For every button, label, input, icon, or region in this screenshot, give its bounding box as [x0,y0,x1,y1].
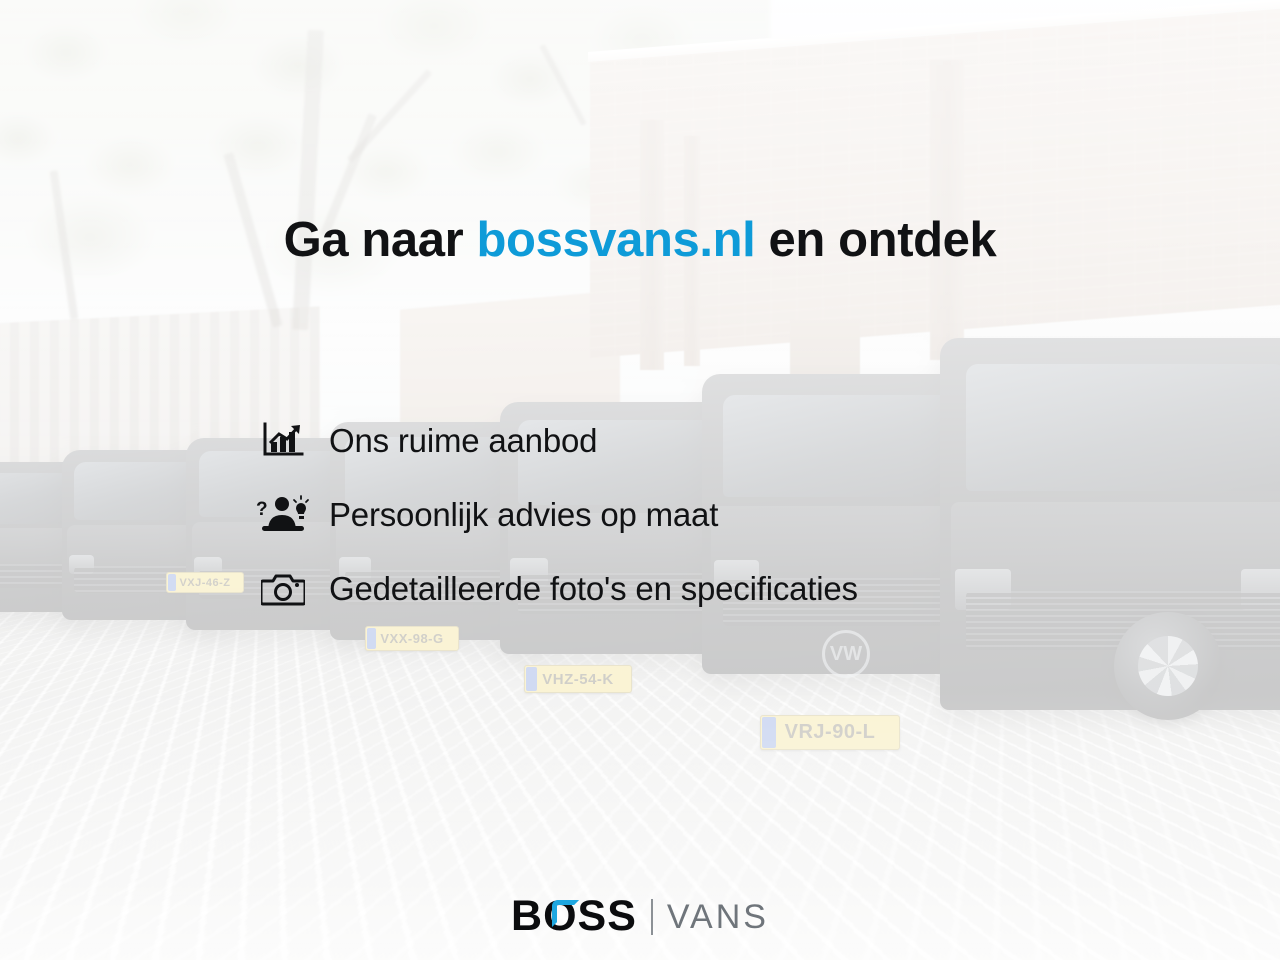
list-item-label: Gedetailleerde foto's en specificaties [329,570,858,608]
list-item-label: Ons ruime aanbod [329,422,597,460]
headline-brand[interactable]: bossvans.nl [477,213,756,267]
headline-before: Ga naar [284,213,477,267]
list-item-label: Persoonlijk advies op maat [329,496,718,534]
headline-after: en ontdek [755,213,996,267]
feature-list: Ons ruime aanbod ? Persoonlijk advies op… [255,418,858,612]
promo-banner: VW VXJ-46-Z VXX-98-G VHZ-54-K VRJ-90-L G… [0,0,1280,960]
bar-chart-growth-icon [255,418,311,464]
logo-divider [651,899,653,935]
boss-vans-logo[interactable]: BOSS VANS [0,895,1280,938]
logo-primary-text: BOSS [511,895,637,938]
list-item: ? Persoonlijk advies op maat [255,492,858,538]
camera-icon [255,566,311,612]
page-title: Ga naar bossvans.nl en ontdek [0,212,1280,268]
list-item: Ons ruime aanbod [255,418,858,464]
banner-content: Ga naar bossvans.nl en ontdek Ons ruime … [0,0,1280,960]
person-advice-icon: ? [255,492,311,538]
logo-secondary-text: VANS [667,900,769,934]
list-item: Gedetailleerde foto's en specificaties [255,566,858,612]
logo-accent-arc [552,900,579,927]
svg-text:?: ? [256,499,268,520]
